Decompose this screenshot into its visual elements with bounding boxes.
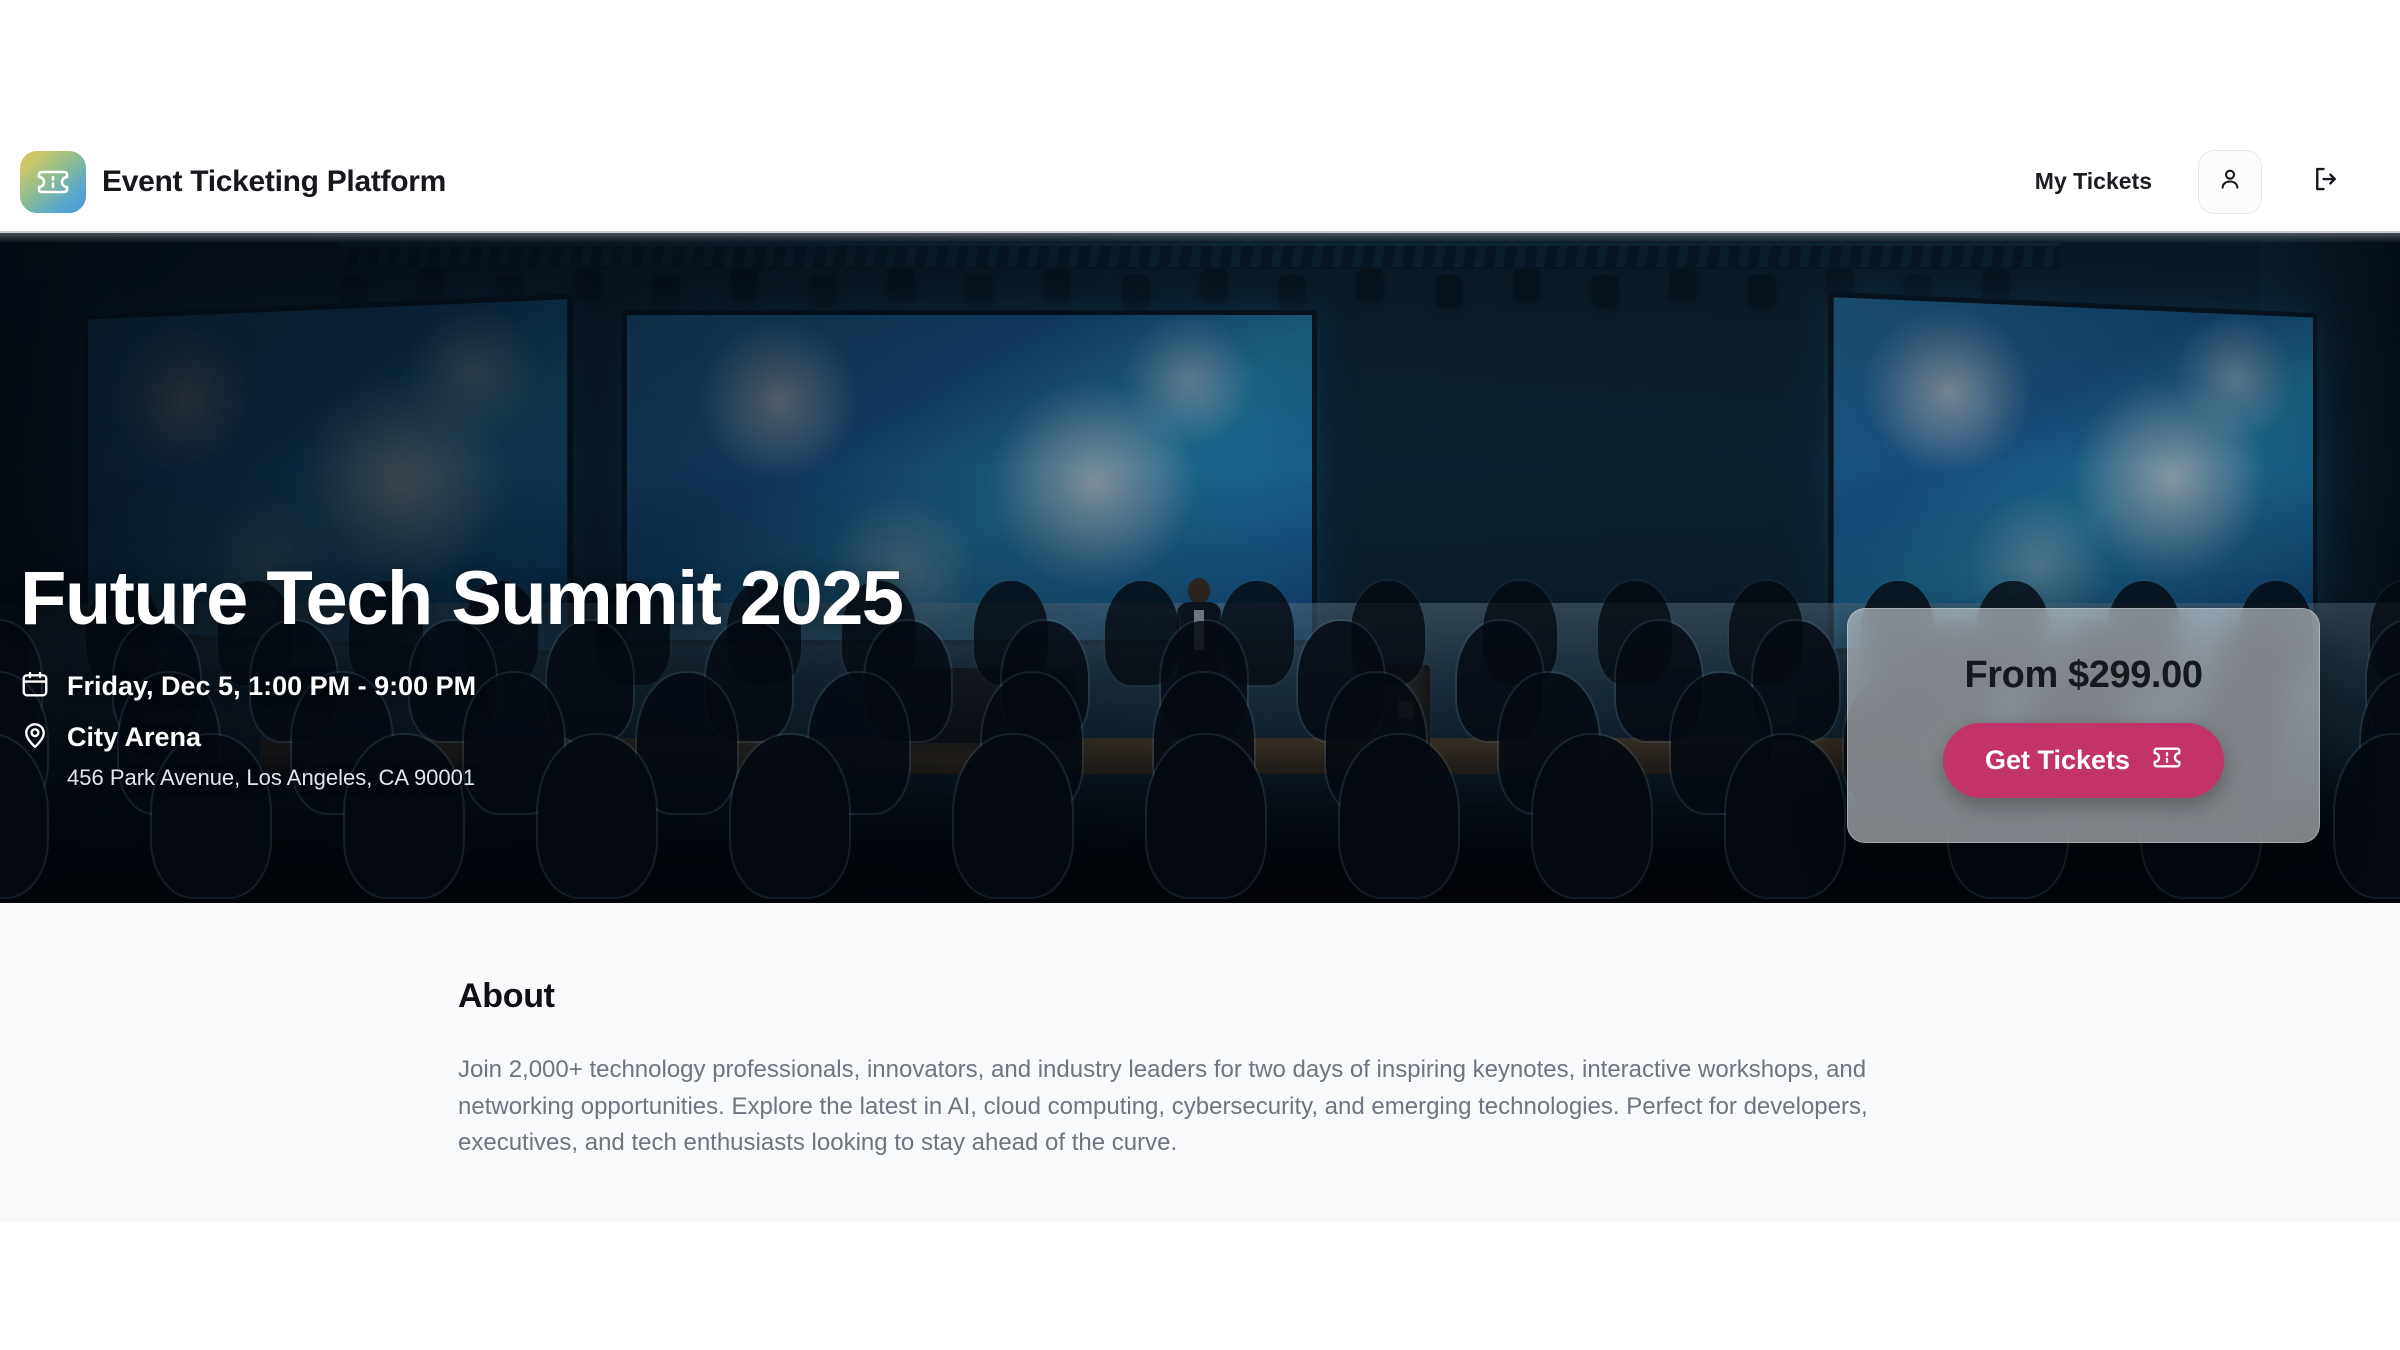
brand[interactable]: Event Ticketing Platform [20,151,446,213]
top-gutter [0,0,2400,130]
hero-banner: Future Tech Summit 2025 Friday, Dec 5, 1… [0,233,2400,903]
nav-my-tickets[interactable]: My Tickets [2009,168,2178,195]
get-tickets-label: Get Tickets [1985,745,2130,776]
event-title: Future Tech Summit 2025 [20,559,902,639]
header-actions: My Tickets [2009,150,2380,214]
site-header: Event Ticketing Platform My Tickets [0,130,2400,233]
logout-button[interactable] [2294,150,2358,214]
event-date-row: Friday, Dec 5, 1:00 PM - 9:00 PM [20,669,902,704]
price-card: From $299.00 Get Tickets [1847,608,2320,843]
calendar-icon [20,669,50,704]
ticket-icon [20,151,86,213]
event-venue-row: City Arena [20,720,902,755]
about-section: About Join 2,000+ technology professiona… [0,903,2400,1223]
about-body: Join 2,000+ technology professionals, in… [458,1052,1928,1162]
get-tickets-button[interactable]: Get Tickets [1943,723,2224,798]
event-address: 456 Park Avenue, Los Angeles, CA 90001 [67,765,902,791]
map-pin-icon [20,720,50,755]
price-label: From $299.00 [1964,654,2202,697]
event-venue: City Arena [67,722,201,753]
user-icon [2217,166,2243,197]
page-tail [0,1223,2400,1350]
event-date: Friday, Dec 5, 1:00 PM - 9:00 PM [67,671,476,702]
account-button[interactable] [2198,150,2262,214]
logout-icon [2311,164,2341,199]
ticket-icon [2152,745,2182,776]
about-heading: About [458,977,2400,1016]
hero-content: Future Tech Summit 2025 Friday, Dec 5, 1… [20,559,902,791]
brand-title: Event Ticketing Platform [102,165,446,199]
